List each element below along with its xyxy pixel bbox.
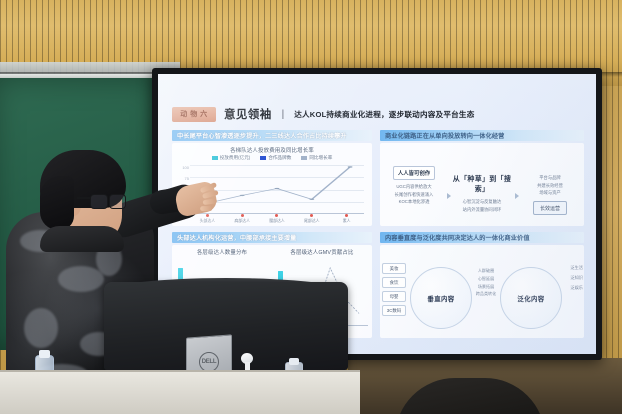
- band-label: 中长尾平台心智渗透逐步提升，二三线达人合作占比持续攀升: [172, 131, 347, 140]
- section-band-top-right: 商业化链路正在从单向投放转向一体化经营: [380, 130, 584, 141]
- bottle-cap: [39, 350, 50, 358]
- tag-item[interactable]: 泛娱乐: [563, 285, 583, 291]
- card-longterm[interactable]: 平台与品牌 共建长效经营 场域与资产 长效运营: [516, 159, 584, 229]
- right-tag-list: 泛生活 泛知识 泛娱乐: [563, 265, 583, 291]
- tag-item[interactable]: 母婴: [382, 291, 406, 302]
- dell-logo: DELL: [199, 352, 219, 372]
- quadrant-bottom-right: 内容垂直度与泛化度共同决定达人的一体化商业价值 美妆 食饮 母婴 3C数码 垂直…: [380, 232, 584, 338]
- note-item: 心智延展: [472, 275, 500, 283]
- brand-logo: 动 物 六: [172, 107, 216, 122]
- cards-panel: 人人皆可创作 UGC内容供给放大 长尾创作者快速涌入 KOC本地化渗透 从「种草…: [380, 143, 584, 226]
- tag-item[interactable]: 3C数码: [382, 305, 406, 316]
- tag-item[interactable]: 泛生活: [563, 265, 583, 271]
- tag-item[interactable]: 泛知识: [563, 275, 583, 281]
- chart-title: 各层级达人GMV贡献占比: [272, 248, 372, 256]
- chart-bar-groups: [190, 165, 364, 213]
- desk-surface: [0, 372, 360, 414]
- legend-item-cyan: 投放费用(亿元): [212, 155, 251, 161]
- quadrant-top-right: 商业化链路正在从单向投放转向一体化经营 人人皆可创作 UGC内容供给放大 长尾创…: [380, 130, 584, 226]
- x-axis-labels: 头部达人 肩部达人 腰部达人 尾部达人 素人: [190, 214, 364, 224]
- circle-vertical-content: 垂直内容: [410, 267, 472, 329]
- screenshot-root: 动 物 六 意见领袖 | 达人KOL持续商业化进程，逐步联动内容及平台生态 中长…: [0, 0, 622, 414]
- card-ugc[interactable]: 人人皆可创作 UGC内容供给放大 长尾创作者快速涌入 KOC本地化渗透: [380, 159, 448, 229]
- legend-item-line: 同比增长率: [301, 155, 332, 161]
- legend-item-blue: 合作品牌数: [260, 155, 291, 161]
- category-tag-list: 美妆 食饮 母婴 3C数码: [382, 263, 406, 316]
- card-chip-label: 人人皆可创作: [393, 166, 435, 180]
- circle-general-content: 泛化内容: [500, 267, 562, 329]
- card-body-text: 平台与品牌 共建长效经营 场域与资产: [520, 174, 580, 197]
- band-label: 商业化链路正在从单向投放转向一体化经营: [380, 131, 504, 140]
- bottle-cap: [289, 358, 299, 365]
- slide-header: 动 物 六 意见领袖 | 达人KOL持续商业化进程，逐步联动内容及平台生态: [172, 103, 584, 125]
- section-band-bottom-right: 内容垂直度与泛化度共同决定达人的一体化商业价值: [380, 232, 584, 243]
- band-label: 内容垂直度与泛化度共同决定达人的一体化商业价值: [380, 233, 530, 242]
- glasses-icon: [90, 194, 126, 208]
- card-search[interactable]: 从「种草」到「搜索」 心智沉淀与反复触达 站内外流量协同闭环: [448, 159, 516, 229]
- title-separator: |: [282, 109, 285, 120]
- middle-notes: 人群破圈 心智延展 场景拓展 跨品类转化: [472, 267, 500, 298]
- tag-item[interactable]: 美妆: [382, 263, 406, 274]
- presenter-collar: [40, 226, 124, 252]
- tag-item[interactable]: 食饮: [382, 277, 406, 288]
- note-item: 人群破圈: [472, 267, 500, 275]
- card-body-text: 心智沉淀与反复触达 站内外流量协同闭环: [452, 198, 512, 213]
- card-body-text: UGC内容供给放大 长尾创作者快速涌入 KOC本地化渗透: [384, 183, 444, 206]
- long-term-operation-button[interactable]: 长效运营: [533, 201, 567, 215]
- note-item: 场景拓展: [472, 283, 500, 291]
- page-title: 意见领袖: [224, 106, 272, 122]
- page-subtitle: 达人KOL持续商业化进程，逐步联动内容及平台生态: [294, 109, 474, 120]
- venn-panel: 美妆 食饮 母婴 3C数码 垂直内容 人群破圈 心智延展 场景拓展 跨品类转化: [380, 245, 584, 338]
- presenter-hair-side: [40, 176, 74, 230]
- card-headline: 从「种草」到「搜索」: [452, 174, 512, 194]
- note-item: 跨品类转化: [472, 290, 500, 298]
- section-band-top-left: 中长尾平台心智渗透逐步提升，二三线达人合作占比持续攀升: [172, 130, 372, 141]
